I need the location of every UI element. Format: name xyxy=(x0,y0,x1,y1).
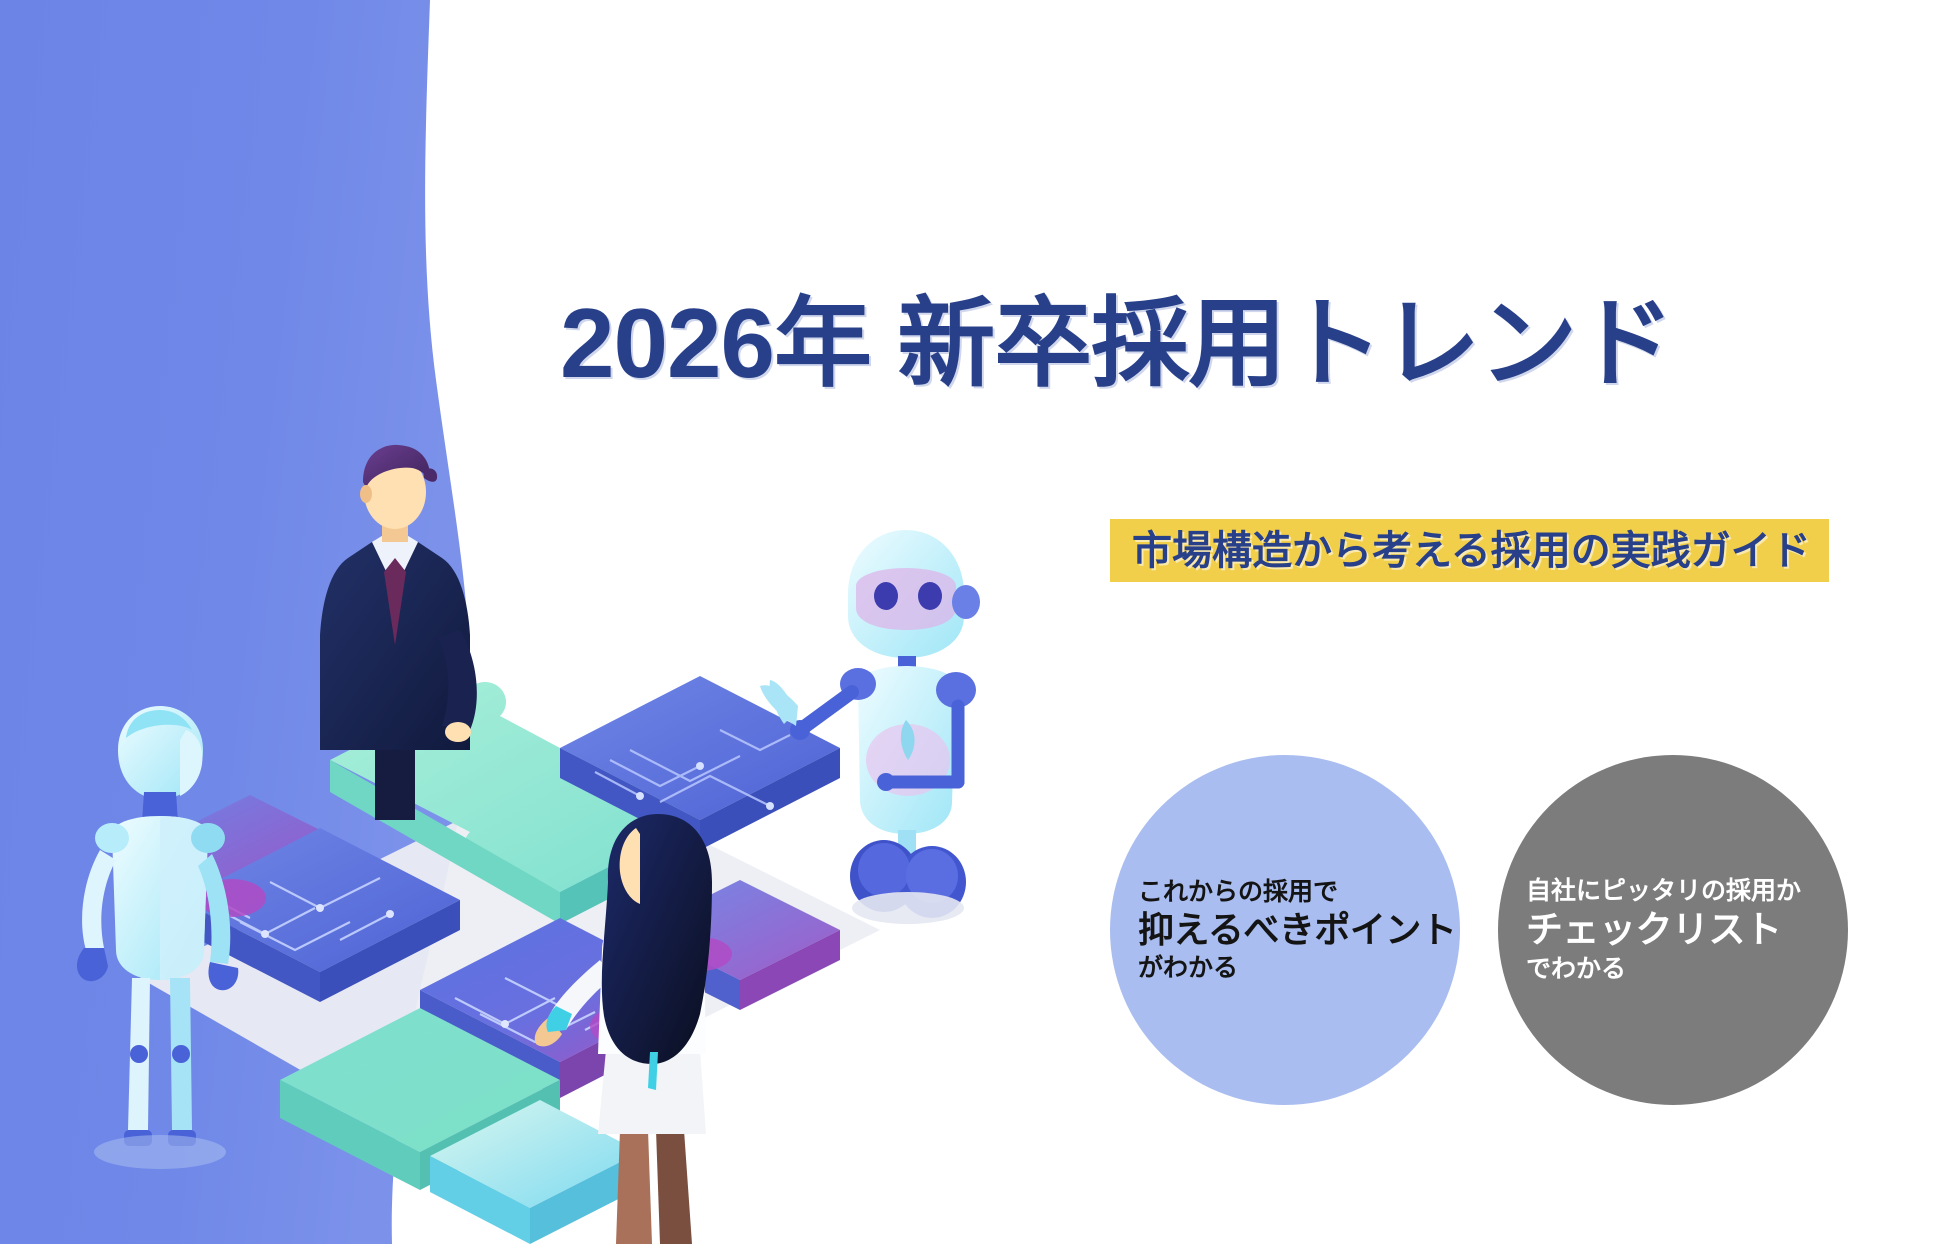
subtitle-text: 市場構造から考える採用の実践ガイド xyxy=(1132,531,1811,571)
benefit-gray-line3: でわかる xyxy=(1526,953,1848,985)
benefit-gray-line1: 自社にピッタリの採用か xyxy=(1526,875,1848,907)
benefit-blue-line1: これからの採用で xyxy=(1138,876,1460,908)
slide-canvas: 2026年 新卒採用トレンド 市場構造から考える採用の実践ガイド これからの採用… xyxy=(0,0,1950,1244)
benefit-blue-line2: 抑えるべきポイント xyxy=(1138,908,1460,952)
humanoid-robot-left xyxy=(77,706,238,1169)
isometric-puzzle-illustration xyxy=(0,430,1000,1244)
page-title: 2026年 新卒採用トレンド xyxy=(560,291,1580,395)
benefit-circle-blue: これからの採用で 抑えるべきポイント がわかる xyxy=(1110,755,1460,1105)
benefit-gray-line2: チェックリスト xyxy=(1526,907,1848,952)
benefit-blue-line3: がわかる xyxy=(1138,952,1460,984)
benefit-circle-gray: 自社にピッタリの採用か チェックリスト でわかる xyxy=(1498,755,1848,1105)
subtitle-highlight-bar: 市場構造から考える採用の実践ガイド xyxy=(1110,519,1829,582)
round-robot-right xyxy=(760,530,980,924)
